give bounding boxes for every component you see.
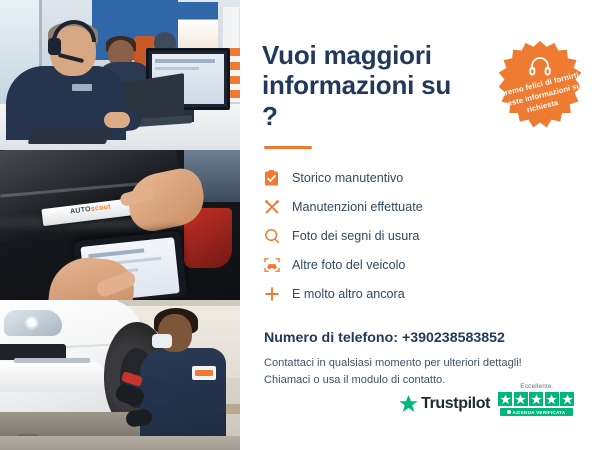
page-title: Vuoi maggiori informazioni su ? <box>262 40 472 131</box>
wall-poster-secondary <box>222 6 240 52</box>
mechanic-wheel-check-photo <box>0 300 240 450</box>
car-headlight <box>4 310 62 336</box>
plus-icon <box>264 286 286 302</box>
polo-logo <box>72 84 92 91</box>
magnifier-icon <box>264 228 286 244</box>
screen-row <box>155 59 215 63</box>
trustpilot-score-block: Eccellente <box>498 383 574 416</box>
trustpilot-star-icon <box>399 395 418 413</box>
advertisement-banner: AUTOscout <box>0 0 600 450</box>
title-divider <box>264 146 312 149</box>
feature-label: E molto altro ancora <box>286 287 405 301</box>
verified-label: AZIENDA VERIFICATA <box>513 410 566 415</box>
phone-line: Numero di telefono: +390238583852 <box>264 330 574 346</box>
feature-label: Manutenzioni effettuate <box>286 200 423 214</box>
feature-label: Foto dei segni di usura <box>286 229 419 243</box>
star-filled <box>529 392 543 406</box>
star-filled <box>560 392 574 406</box>
trustpilot-wordmark: Trustpilot <box>421 395 490 413</box>
call-center-agent-photo <box>0 0 240 150</box>
phone-number[interactable]: +390238583852 <box>402 330 505 346</box>
feature-item-maintenance-done: Manutenzioni effettuate <box>264 192 574 221</box>
feature-label: Storico manutentivo <box>286 171 403 185</box>
screen-row <box>155 67 199 70</box>
verified-company-badge: AZIENDA VERIFICATA <box>500 408 573 416</box>
garage-floor <box>0 436 240 450</box>
face-mask <box>152 334 172 348</box>
contact-line-1: Contattaci in qualsiasi momento per ulte… <box>264 355 574 372</box>
content-panel: Vuoi maggiori informazioni su ? Saremo f… <box>240 0 600 450</box>
feature-item-more: E molto altro ancora <box>264 279 574 308</box>
feature-list: Storico manutentivo Manutenzioni effettu… <box>264 163 574 308</box>
clipboard-check-icon <box>264 170 286 186</box>
headset-icon <box>529 56 551 76</box>
feature-item-wear-photos: Foto dei segni di usura <box>264 221 574 250</box>
star-rating <box>498 392 574 406</box>
star-filled <box>514 392 528 406</box>
trustpilot-logo: Trustpilot <box>399 395 490 416</box>
rating-label: Eccellente <box>520 383 552 390</box>
trustpilot-rating[interactable]: Trustpilot Eccellente <box>399 383 574 416</box>
garage-wall-trim <box>118 300 240 306</box>
bumper-chrome-trim <box>14 358 90 363</box>
verified-check-icon <box>507 410 511 414</box>
keyboard <box>28 128 111 144</box>
feature-item-vehicle-photos: Altre foto del veicolo <box>264 250 574 279</box>
request-info-badge: Saremo felici di fornirti queste informa… <box>492 40 588 136</box>
photo-column: AUTOscout <box>0 0 240 450</box>
car-bumper <box>0 362 106 392</box>
agent-hand <box>104 112 130 128</box>
uniform-badge <box>192 366 216 380</box>
star-filled <box>498 392 512 406</box>
crossed-tools-icon <box>264 199 286 215</box>
phone-label: Numero di telefono: <box>264 330 398 346</box>
wall-poster <box>178 2 218 54</box>
feature-label: Altre foto del veicolo <box>286 258 405 272</box>
feature-item-service-history: Storico manutentivo <box>264 163 574 192</box>
vehicle-inspection-tablet-photo: AUTOscout <box>0 150 240 300</box>
headlight-bulb <box>24 315 39 330</box>
car-frame-icon <box>264 257 286 273</box>
star-filled <box>545 392 559 406</box>
